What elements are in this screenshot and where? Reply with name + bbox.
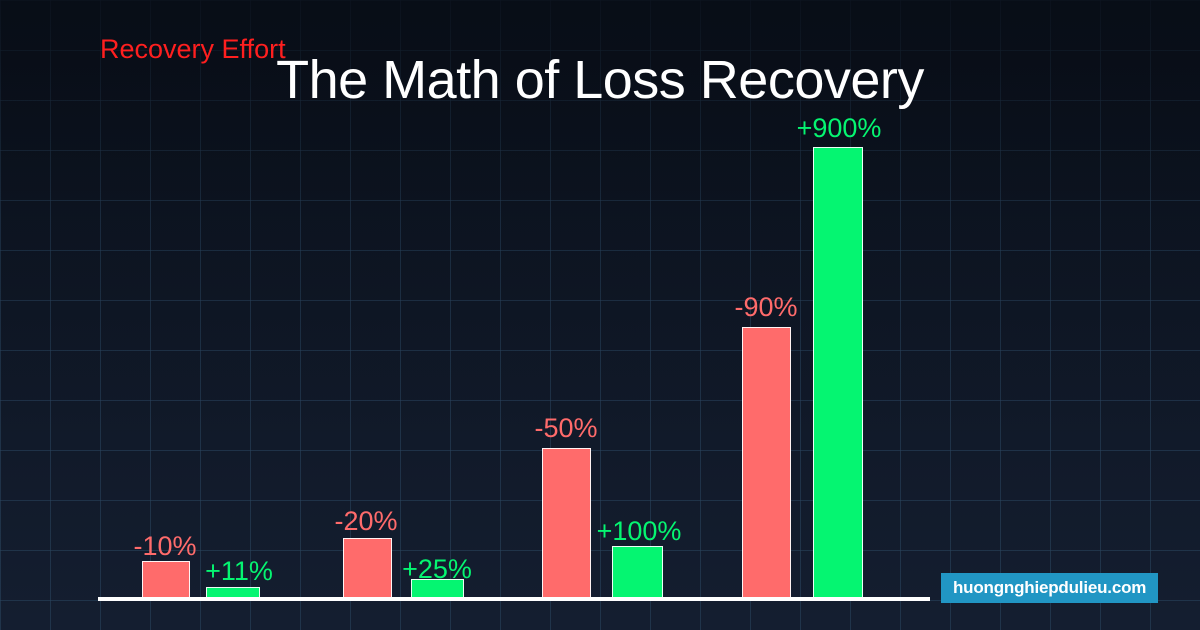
bar-label-gain-900: +900%	[797, 115, 882, 142]
bar-chart-plot: -10%+11%-20%+25%-50%+100%-90%+900%	[0, 0, 1200, 630]
bar-loss-20[interactable]	[343, 538, 392, 599]
bar-label-loss-90: -90%	[734, 294, 797, 321]
bar-gain-900[interactable]	[813, 147, 863, 599]
watermark-badge: huongnghiepdulieu.com	[941, 573, 1158, 603]
bar-loss-90[interactable]	[742, 327, 791, 599]
bar-label-gain-25: +25%	[402, 556, 472, 583]
axis-baseline	[98, 597, 930, 601]
bar-label-loss-20: -20%	[334, 508, 397, 535]
bar-label-loss-10: -10%	[133, 533, 196, 560]
bar-loss-10[interactable]	[142, 561, 190, 599]
bar-label-gain-100: +100%	[597, 518, 682, 545]
bar-gain-100[interactable]	[612, 546, 663, 599]
chart-canvas: Recovery Effort The Math of Loss Recover…	[0, 0, 1200, 630]
bar-loss-50[interactable]	[542, 448, 591, 599]
bar-label-loss-50: -50%	[534, 415, 597, 442]
bar-label-gain-11: +11%	[205, 558, 273, 585]
